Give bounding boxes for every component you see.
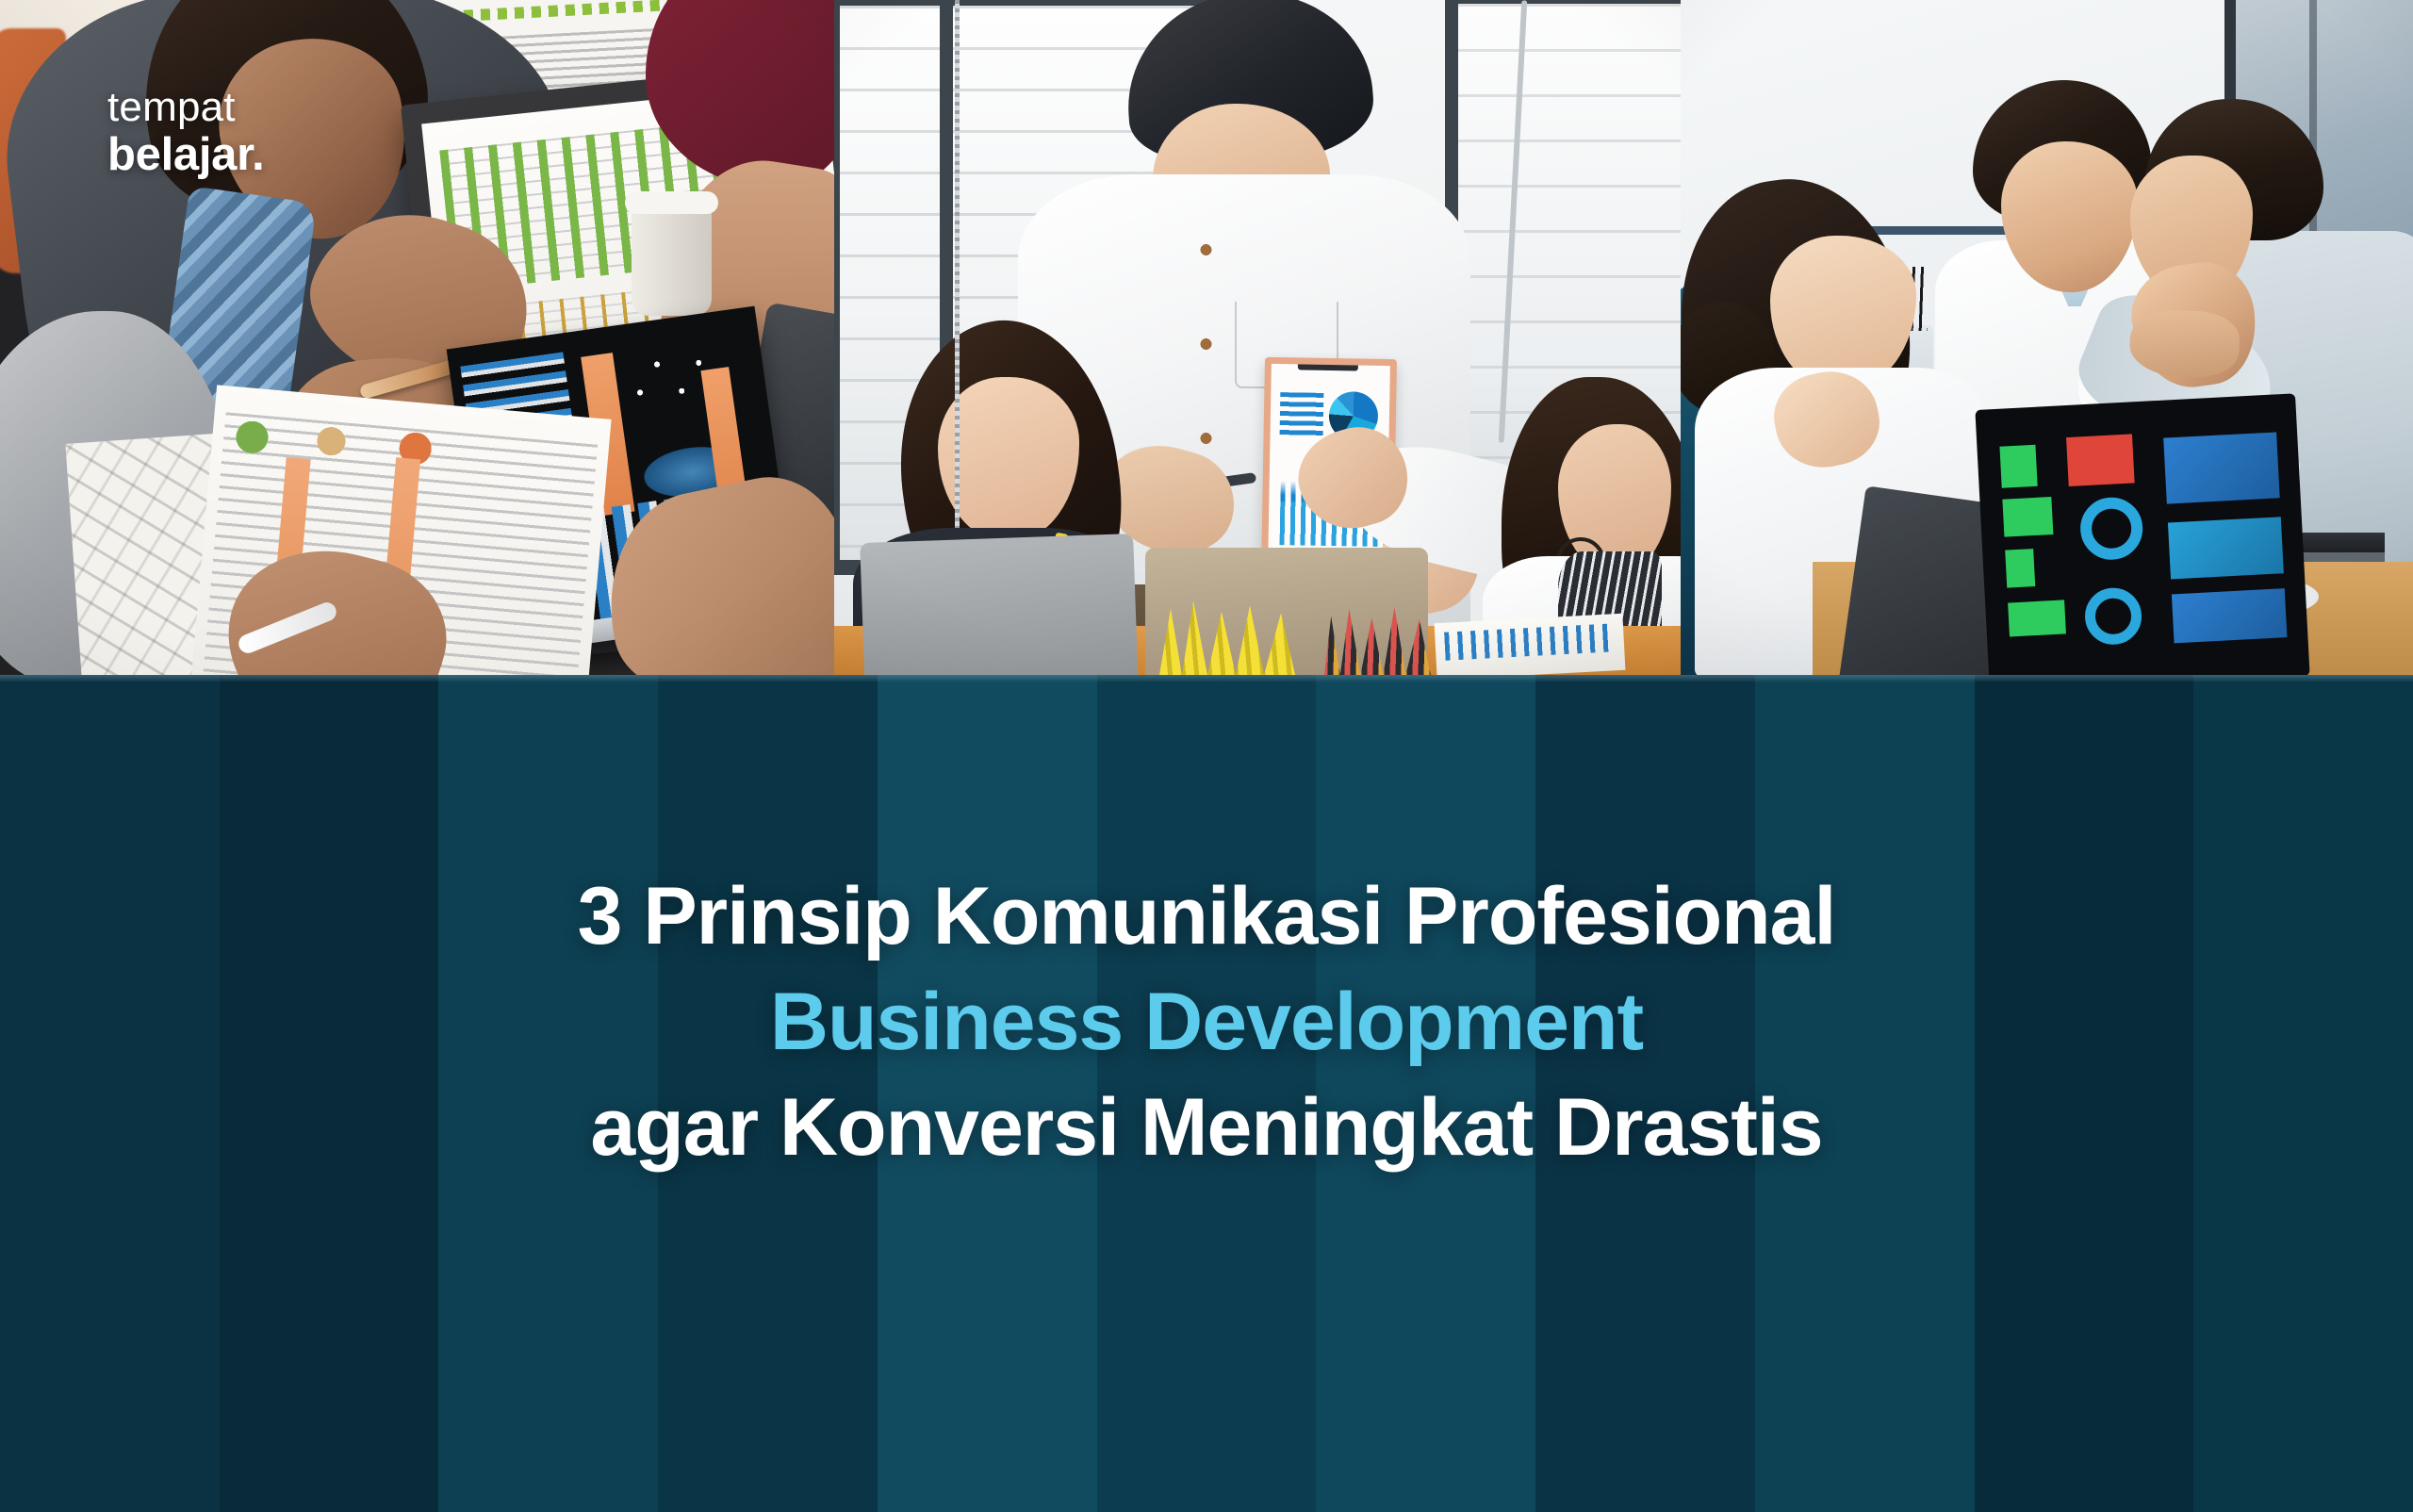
clipboard-bar-chart <box>1280 392 1324 438</box>
monitor-blue-panel-3 <box>2172 588 2288 643</box>
monitor-green-block-2 <box>2002 497 2053 537</box>
monitor-red-block <box>2066 434 2135 486</box>
photo-panel-presentation <box>834 0 1681 675</box>
dashboard-monitor <box>1975 393 2309 675</box>
brand-logo-line2: belajar. <box>107 132 265 178</box>
headline-line-1: 3 Prinsip Komunikasi Profesional <box>578 864 1836 970</box>
thumbnail-canvas: tempat belajar. 3 Prinsip Komunikasi Pro… <box>0 0 2413 1512</box>
monitor-donut-chart-2 <box>2083 586 2142 646</box>
monitor-green-block-4 <box>2008 600 2066 636</box>
headline-block: 3 Prinsip Komunikasi Profesional Busines… <box>0 675 2413 1512</box>
window-blind-cord <box>955 0 960 528</box>
monitor-donut-chart-1 <box>2078 496 2143 561</box>
sheet-photo-row <box>224 401 492 480</box>
brand-logo-line1: tempat <box>107 87 265 128</box>
clipboard-clamp <box>1298 357 1358 371</box>
photo-strip <box>0 0 2413 675</box>
desk-paper-chart <box>1435 614 1626 675</box>
coffee-cup <box>632 203 712 316</box>
monitor-green-block-3 <box>2005 549 2035 588</box>
headline-banner: 3 Prinsip Komunikasi Profesional Busines… <box>0 675 2413 1512</box>
headline-line-3: agar Konversi Meningkat Drastis <box>590 1076 1822 1181</box>
photo-panel-celebration <box>1681 0 2413 675</box>
brand-logo[interactable]: tempat belajar. <box>107 87 265 178</box>
monitor-blue-panel-2 <box>2168 517 2284 579</box>
laptop-left <box>860 534 1139 675</box>
monitor-blue-panel-1 <box>2163 432 2279 503</box>
monitor-green-block-1 <box>1999 445 2037 488</box>
headline-line-2: Business Development <box>770 970 1643 1076</box>
